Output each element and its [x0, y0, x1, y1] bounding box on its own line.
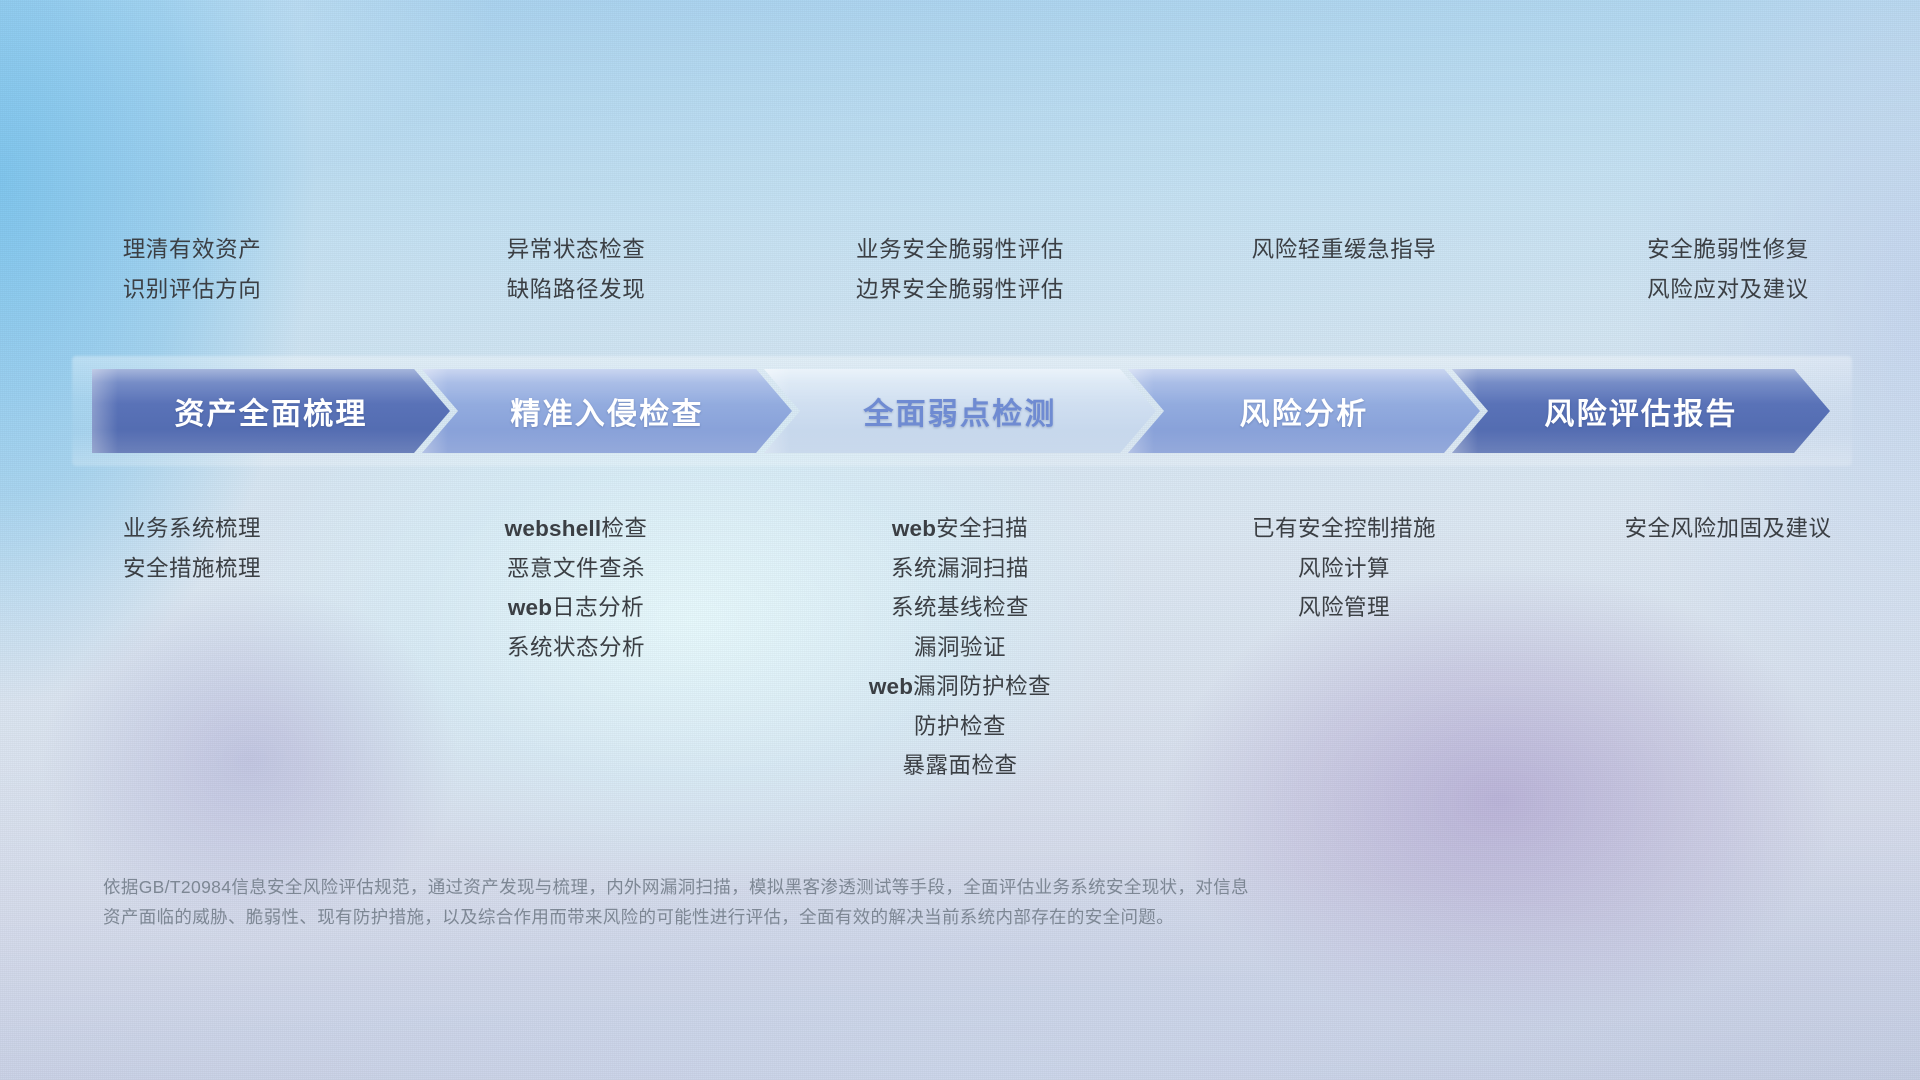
stage-activities-row: 业务系统梳理安全措施梳理webshell检查恶意文件查杀web日志分析系统状态分… — [0, 509, 1920, 786]
stage-input-item: 业务安全脆弱性评估 — [856, 230, 1064, 270]
chevron-intrusion-check[interactable]: 精准入侵检查 — [422, 369, 792, 453]
stage-input-item: 识别评估方向 — [123, 270, 262, 310]
process-chevron-banner: 资产全面梳理精准入侵检查全面弱点检测风险分析风险评估报告 — [92, 369, 1830, 453]
stage-activities-risk-analysis: 已有安全控制措施风险计算风险管理 — [1152, 509, 1536, 628]
stage-activity-item: 已有安全控制措施 — [1252, 509, 1436, 549]
activity-latin-token: web — [892, 516, 936, 541]
activity-cjk-token: 日志分析 — [552, 595, 644, 620]
stage-activity-item: 恶意文件查杀 — [507, 549, 645, 589]
stage-inputs-weakness-detection: 业务安全脆弱性评估边界安全脆弱性评估 — [768, 230, 1152, 310]
stage-activity-item: web漏洞防护检查 — [869, 667, 1051, 707]
stage-activity-item: 系统漏洞扫描 — [891, 549, 1029, 589]
stage-input-item: 风险应对及建议 — [1647, 270, 1809, 310]
chevron-label-risk-report: 风险评估报告 — [1544, 389, 1737, 433]
stage-inputs-risk-analysis: 风险轻重缓急指导 — [1152, 230, 1536, 270]
stage-activity-item: 安全风险加固及建议 — [1624, 509, 1831, 549]
stage-activity-item: web日志分析 — [508, 588, 644, 628]
chevron-label-intrusion-check: 精准入侵检查 — [510, 389, 703, 433]
stage-activity-item: 防护检查 — [914, 707, 1006, 747]
stage-activities-weakness-detection: web安全扫描系统漏洞扫描系统基线检查漏洞验证web漏洞防护检查防护检查暴露面检… — [768, 509, 1152, 786]
stage-inputs-risk-report: 安全脆弱性修复风险应对及建议 — [1536, 230, 1920, 310]
activity-latin-token: web — [869, 674, 913, 699]
stage-activity-item: 安全措施梳理 — [123, 549, 261, 589]
stage-activity-item: 系统基线检查 — [891, 588, 1029, 628]
stage-activity-item: 暴露面检查 — [902, 746, 1017, 786]
stage-activity-item: web安全扫描 — [892, 509, 1028, 549]
activity-cjk-token: 检查 — [601, 516, 647, 541]
footer-description: 依据GB/T20984信息安全风险评估规范，通过资产发现与梳理，内外网漏洞扫描，… — [103, 872, 1603, 932]
stage-activities-risk-report: 安全风险加固及建议 — [1536, 509, 1920, 549]
chevron-label-asset-inventory: 资产全面梳理 — [174, 389, 367, 433]
activity-cjk-token: 漏洞防护检查 — [913, 674, 1051, 699]
stage-input-item: 异常状态检查 — [507, 230, 646, 270]
activity-latin-token: webshell — [505, 516, 602, 541]
chevron-risk-report[interactable]: 风险评估报告 — [1452, 369, 1830, 453]
footer-line-2: 资产面临的威胁、脆弱性、现有防护措施，以及综合作用而带来风险的可能性进行评估，全… — [103, 902, 1603, 932]
stage-input-item: 安全脆弱性修复 — [1647, 230, 1809, 270]
stage-activities-asset-inventory: 业务系统梳理安全措施梳理 — [0, 509, 384, 588]
stage-activity-item: 系统状态分析 — [507, 628, 645, 668]
stage-activity-item: 风险计算 — [1298, 549, 1390, 589]
stage-activity-item: 风险管理 — [1298, 588, 1390, 628]
stage-input-item: 边界安全脆弱性评估 — [856, 270, 1064, 310]
activity-cjk-token: 安全扫描 — [936, 516, 1028, 541]
chevron-risk-analysis[interactable]: 风险分析 — [1128, 369, 1480, 453]
chevron-label-weakness-detection: 全面弱点检测 — [863, 389, 1056, 433]
chevron-weakness-detection[interactable]: 全面弱点检测 — [764, 369, 1156, 453]
stage-activity-item: 漏洞验证 — [914, 628, 1006, 668]
diagram-content: 理清有效资产识别评估方向异常状态检查缺陷路径发现业务安全脆弱性评估边界安全脆弱性… — [0, 0, 1920, 1080]
stage-inputs-asset-inventory: 理清有效资产识别评估方向 — [0, 230, 384, 310]
stage-activities-intrusion-check: webshell检查恶意文件查杀web日志分析系统状态分析 — [384, 509, 768, 667]
activity-latin-token: web — [508, 595, 552, 620]
footer-line-1: 依据GB/T20984信息安全风险评估规范，通过资产发现与梳理，内外网漏洞扫描，… — [103, 872, 1603, 902]
slide-canvas: 理清有效资产识别评估方向异常状态检查缺陷路径发现业务安全脆弱性评估边界安全脆弱性… — [0, 0, 1920, 1080]
stage-input-item: 风险轻重缓急指导 — [1252, 230, 1437, 270]
stage-activity-item: webshell检查 — [505, 509, 648, 549]
chevron-label-risk-analysis: 风险分析 — [1240, 389, 1369, 433]
stage-activity-item: 业务系统梳理 — [123, 509, 261, 549]
chevron-asset-inventory[interactable]: 资产全面梳理 — [92, 369, 450, 453]
stage-inputs-row: 理清有效资产识别评估方向异常状态检查缺陷路径发现业务安全脆弱性评估边界安全脆弱性… — [0, 230, 1920, 310]
stage-input-item: 缺陷路径发现 — [507, 270, 646, 310]
stage-input-item: 理清有效资产 — [123, 230, 262, 270]
stage-inputs-intrusion-check: 异常状态检查缺陷路径发现 — [384, 230, 768, 310]
